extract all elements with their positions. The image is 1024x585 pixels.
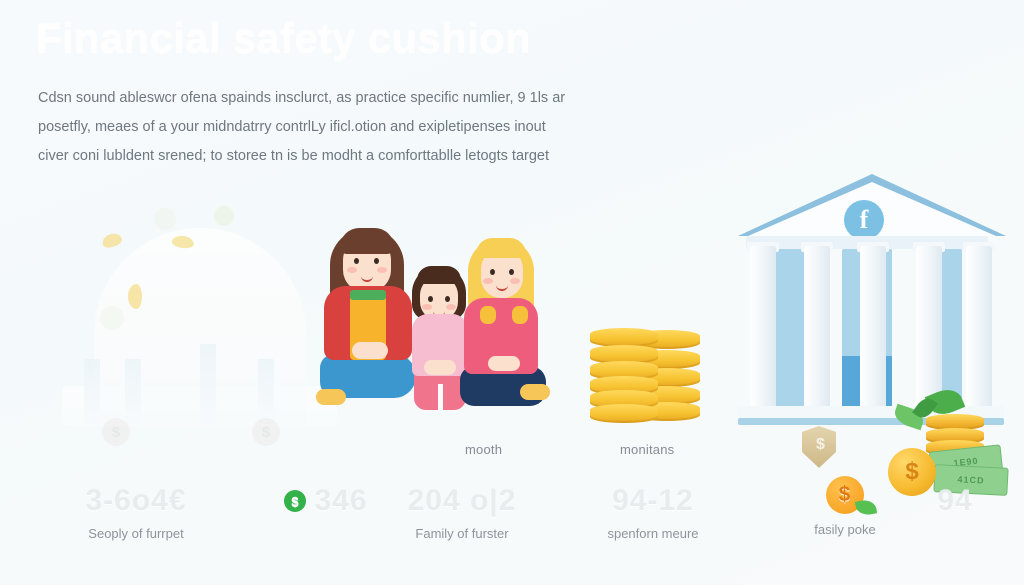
- dollar-coin-icon: $: [252, 418, 280, 446]
- eye-icon: [445, 296, 450, 302]
- bank-column: [860, 246, 886, 410]
- savings-dome-illustration: $ $: [62, 206, 337, 446]
- stat-item: 94: [900, 484, 1010, 526]
- teen-shoe: [520, 384, 550, 400]
- cheek-blush: [422, 304, 432, 310]
- cheek-blush: [510, 278, 520, 284]
- stat-label: Seoply of furrpet: [36, 526, 236, 541]
- infographic-canvas: Financial safety cushion Cdsn sound able…: [0, 0, 1024, 585]
- child-hands: [424, 360, 456, 375]
- dome-pillar: [125, 359, 141, 424]
- coin-icon: [590, 404, 658, 423]
- description-line-3: civer coni lubldent srened; to storee tn…: [38, 142, 678, 171]
- stat-item: 3-6o4€ Seoply of furrpet: [36, 484, 236, 541]
- falling-coin-icon: [100, 231, 123, 250]
- eye-icon: [509, 269, 514, 275]
- mother-hair-front: [340, 228, 394, 254]
- mouth: [496, 283, 508, 291]
- child-bangs: [417, 266, 461, 284]
- shield-dollar-icon: $: [816, 436, 825, 454]
- stat-item: 204 o|2 Family of furster: [372, 484, 552, 541]
- money-cluster: 1E90 41CD $: [888, 390, 1010, 484]
- eye-icon: [354, 258, 359, 264]
- eye-icon: [428, 296, 433, 302]
- teen-bangs: [476, 238, 526, 258]
- cheek-blush: [446, 304, 456, 310]
- family-caption: mooth: [465, 442, 502, 457]
- child-leg-gap: [438, 384, 443, 410]
- dollar-coin-icon: $: [102, 418, 130, 446]
- teen-hands: [488, 356, 520, 371]
- page-description: Cdsn sound ableswcr ofena spainds insclu…: [38, 84, 678, 171]
- description-line-1: Cdsn sound ableswcr ofena spainds insclu…: [38, 84, 678, 113]
- dome-pillar: [258, 359, 274, 424]
- stat-item: 94-12 spenforn meure: [558, 484, 748, 541]
- mother-shoe: [316, 389, 346, 405]
- description-line-2: posetfly, meaes of a your midndatrry con…: [38, 113, 678, 142]
- eye-icon: [490, 269, 495, 275]
- orange-dollar-coin-icon: $: [826, 476, 864, 514]
- eye-icon: [374, 258, 379, 264]
- mother-collar: [350, 290, 386, 300]
- bank-logo-icon: f: [844, 200, 884, 240]
- faded-coin-icon: [100, 306, 124, 330]
- bank-column: [804, 246, 830, 410]
- coins-caption: monitans: [620, 442, 674, 457]
- stat-value: 94-12: [558, 484, 748, 518]
- faded-coin-icon: [154, 208, 176, 230]
- family-illustration: [316, 214, 554, 436]
- stat-value: 346: [314, 484, 367, 518]
- stats-row: 3-6o4€ Seoply of furrpet $ 346 204 o|2 F…: [0, 480, 1024, 570]
- cheek-blush: [483, 278, 493, 284]
- coin-stacks-illustration: [590, 328, 700, 424]
- dollar-badge-icon: $: [284, 490, 306, 512]
- stat-label: Family of furster: [372, 526, 552, 541]
- bank-illustration: f $ 1E90 41CD: [738, 174, 1010, 442]
- bank-column: [916, 246, 942, 410]
- stat-value: 204 o|2: [372, 484, 552, 518]
- faded-coin-icon: [214, 206, 234, 226]
- falling-coin-icon: [128, 284, 142, 309]
- teen-collar-tab: [512, 306, 528, 324]
- mother-hands: [352, 342, 388, 359]
- bank-column: [966, 246, 992, 410]
- dome-pillar: [84, 359, 100, 424]
- cheek-blush: [377, 267, 387, 273]
- stat-value: 3-6o4€: [36, 484, 236, 518]
- mouth: [361, 274, 373, 282]
- cheek-blush: [347, 267, 357, 273]
- teen-collar-tab: [480, 306, 496, 324]
- stat-label: spenforn meure: [558, 526, 748, 541]
- dome-pillar: [200, 344, 216, 424]
- dollar-symbol: $: [839, 483, 852, 507]
- stat-value: 94: [900, 484, 1010, 518]
- leaf-icon: [855, 498, 877, 516]
- page-title: Financial safety cushion: [36, 14, 531, 62]
- bank-column: [750, 246, 776, 410]
